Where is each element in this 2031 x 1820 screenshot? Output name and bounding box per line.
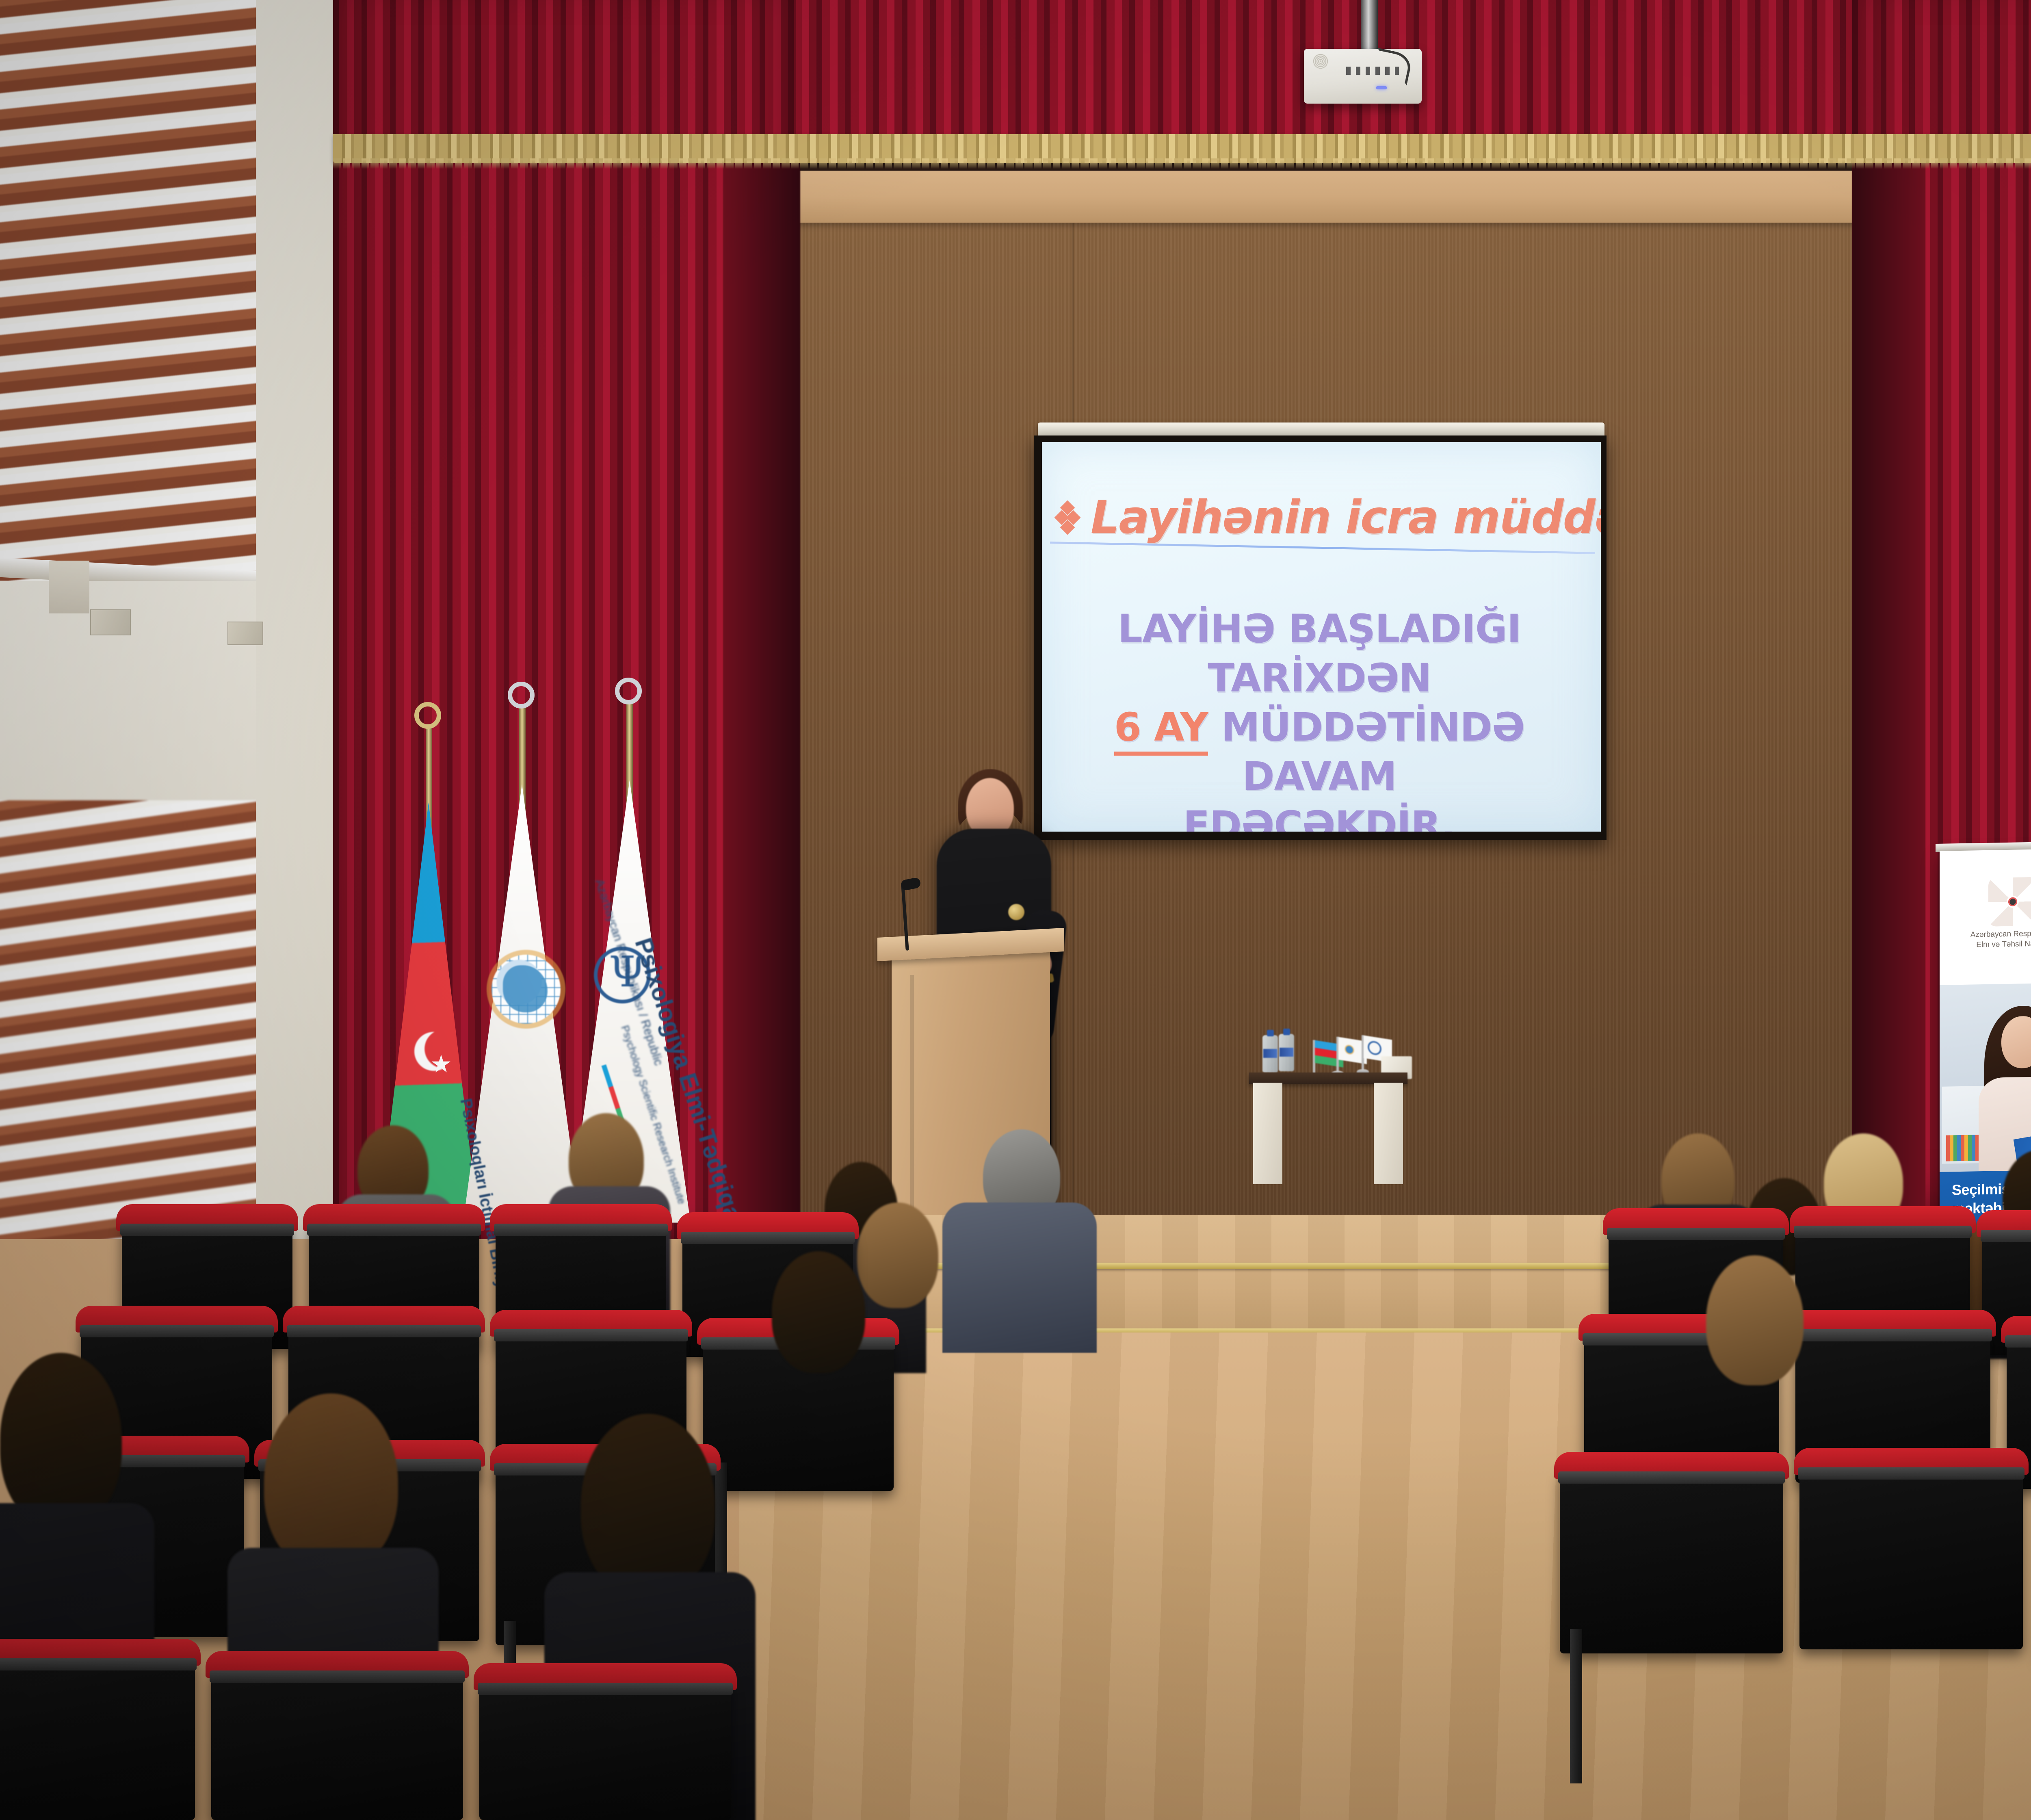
auditorium-seat[interactable]: [1799, 1458, 2023, 1649]
side-table-leg: [1374, 1083, 1403, 1184]
auditorium-seat-foreground[interactable]: [0, 1649, 195, 1820]
ministry-logo-caption: Azərbaycan Respublikası Elm və Təhsil Na…: [1959, 928, 2031, 950]
curtain-left-shadow: [723, 154, 800, 1276]
seat-leg: [715, 1462, 727, 1584]
audience-head: [857, 1202, 938, 1308]
curtain-right-shadow: [1852, 154, 1925, 1235]
gold-valance-fringe: [333, 134, 2031, 163]
slide-highlight-duration: 6 AY: [1114, 704, 1208, 756]
audience-head-foreground: [264, 1393, 398, 1572]
left-pillar: [49, 561, 89, 613]
ministry-logo-icon: [1988, 877, 2031, 927]
wall-vent-icon: [90, 609, 131, 635]
globe-wreath-emblem-icon: [492, 955, 561, 1024]
audience-head: [1706, 1255, 1804, 1385]
audience-head-foreground: [581, 1414, 715, 1597]
banner-photo: [1940, 981, 2031, 1176]
auditorium-scene: Layihənin icra müddəti LAYİHƏ BAŞLADIĞI …: [0, 0, 2031, 1820]
slide-title: Layihənin icra müddəti: [1091, 495, 1601, 540]
water-bottle: [1262, 1035, 1278, 1072]
desk-flag-union: [1336, 1037, 1339, 1072]
projection-screen-frame: Layihənin icra müddəti LAYİHƏ BAŞLADIĞI …: [1034, 435, 1607, 840]
seat-leg: [1570, 1629, 1582, 1783]
auditorium-seat[interactable]: [1560, 1462, 1783, 1653]
diamond-cluster-icon: [1057, 502, 1080, 533]
projector-status-led: [1376, 86, 1387, 89]
water-bottle: [1279, 1034, 1294, 1071]
slide-title-row: Layihənin icra müddəti: [1057, 495, 1589, 540]
wall-vent-2-icon: [227, 622, 263, 645]
side-table-top: [1249, 1072, 1407, 1084]
speaker-brooch: [1008, 904, 1024, 920]
slide-body-line2: MÜDDƏTİNDƏ DAVAM: [1221, 704, 1524, 799]
projected-slide: Layihənin icra müddəti LAYİHƏ BAŞLADIĞI …: [1042, 442, 1601, 832]
audience-torso: [942, 1202, 1097, 1353]
slide-body-line3: EDƏCƏKDİR.: [1183, 803, 1456, 832]
desk-flag-azerbaijan: [1313, 1040, 1315, 1076]
slide-body-line1: LAYİHƏ BAŞLADIĞI TARİXDƏN: [1118, 606, 1521, 701]
auditorium-seat-foreground[interactable]: [211, 1662, 463, 1820]
stage-header-beam: [772, 171, 1893, 223]
flag-finial-icon: [414, 702, 441, 729]
flag-finial-icon: [615, 678, 642, 704]
desk-flag-institute: [1362, 1035, 1364, 1071]
flag-finial-icon: [508, 682, 535, 708]
audience-head: [772, 1251, 865, 1373]
projector-mount-pole: [1361, 0, 1378, 55]
side-table-leg: [1253, 1083, 1282, 1184]
audience-head-foreground: [0, 1353, 122, 1527]
slide-body: LAYİHƏ BAŞLADIĞI TARİXDƏN 6 AY MÜDDƏTİND…: [1042, 604, 1597, 832]
auditorium-seat-foreground[interactable]: [479, 1674, 731, 1820]
